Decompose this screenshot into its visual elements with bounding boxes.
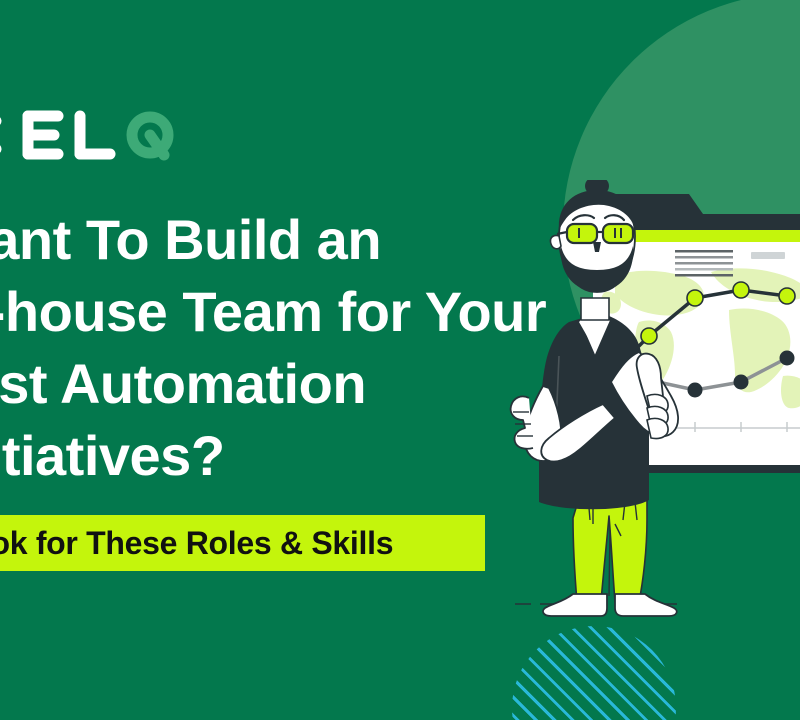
headline-line-1: Want To Build an (0, 204, 498, 276)
background-circle-hatched (512, 626, 676, 720)
hatch-pattern (512, 626, 676, 720)
headline-line-4: Initiatives? (0, 420, 498, 492)
page-title: Want To Build an In-house Team for Your … (0, 204, 498, 492)
banner-canvas: Want To Build an In-house Team for Your … (0, 0, 800, 720)
subtitle-banner-label: Look for These Roles & Skills (0, 525, 393, 562)
hero-illustration (497, 180, 800, 620)
headline-line-3: Test Automation (0, 348, 498, 420)
brand-logo[interactable] (0, 104, 198, 162)
glasses-icon (557, 224, 633, 243)
subtitle-banner: Look for These Roles & Skills (0, 515, 485, 571)
headline-line-2: In-house Team for Your (0, 276, 498, 348)
